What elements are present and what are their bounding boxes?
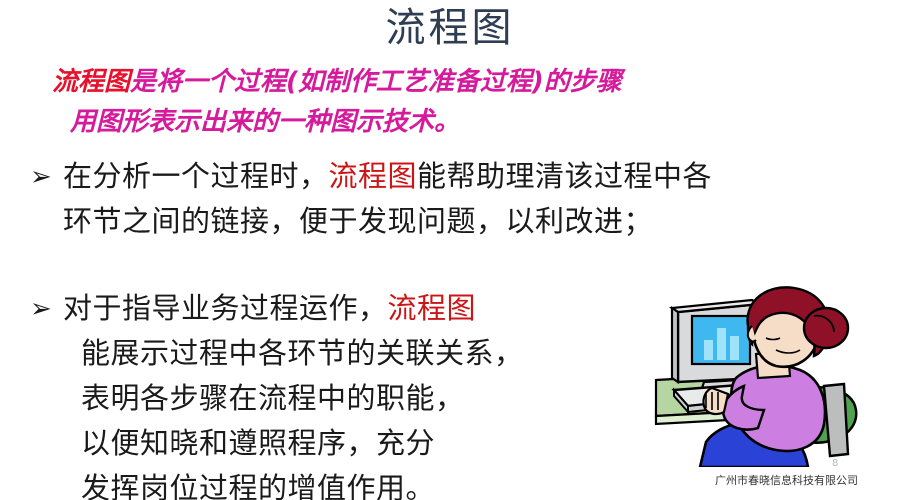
bullet-2-line-1-pre: 对于指导业务过程运作， xyxy=(63,293,388,325)
page-title: 流程图 xyxy=(0,2,900,54)
intro-line-1-rest: 是将一个过程(如制作工艺准备过程)的步骤 xyxy=(130,67,622,97)
company-watermark: 广州市春晓信息科技有限公司 xyxy=(715,474,858,488)
bullet-2-highlight-term: 流程图 xyxy=(388,293,477,325)
intro-paragraph: 流程图是将一个过程(如制作工艺准备过程)的步骤 用图形表示出来的一种图示技术。 xyxy=(52,62,862,142)
intro-line-2: 用图形表示出来的一种图示技术。 xyxy=(52,102,862,142)
bullet-item-1: ➢ 在分析一个过程时，流程图能帮助理清该过程中各 环节之间的链接，便于发现问题，… xyxy=(30,155,870,245)
intro-highlight-term: 流程图 xyxy=(52,67,130,97)
bullet-1-line-1: 在分析一个过程时，流程图能帮助理清该过程中各 xyxy=(63,155,870,200)
page-number: 8 xyxy=(832,458,838,469)
intro-line-1: 流程图是将一个过程(如制作工艺准备过程)的步骤 xyxy=(52,62,862,102)
bullet-1-line-1-post: 能帮助理清该过程中各 xyxy=(417,161,712,193)
bullet-item-1-text: 在分析一个过程时，流程图能帮助理清该过程中各 环节之间的链接，便于发现问题，以利… xyxy=(30,155,870,245)
bullet-1-line-1-pre: 在分析一个过程时， xyxy=(63,161,329,193)
arrow-bullet-icon-2: ➢ xyxy=(30,287,60,332)
woman-at-computer-clipart xyxy=(648,282,888,467)
hair-bun xyxy=(804,308,848,348)
hand-shape xyxy=(703,388,728,414)
slide-canvas: 流程图 流程图是将一个过程(如制作工艺准备过程)的步骤 用图形表示出来的一种图示… xyxy=(0,0,900,500)
arrow-bullet-icon: ➢ xyxy=(30,155,60,200)
bullet-1-line-2: 环节之间的链接，便于发现问题，以利改进； xyxy=(63,200,870,245)
bullet-1-highlight-term: 流程图 xyxy=(329,161,418,193)
